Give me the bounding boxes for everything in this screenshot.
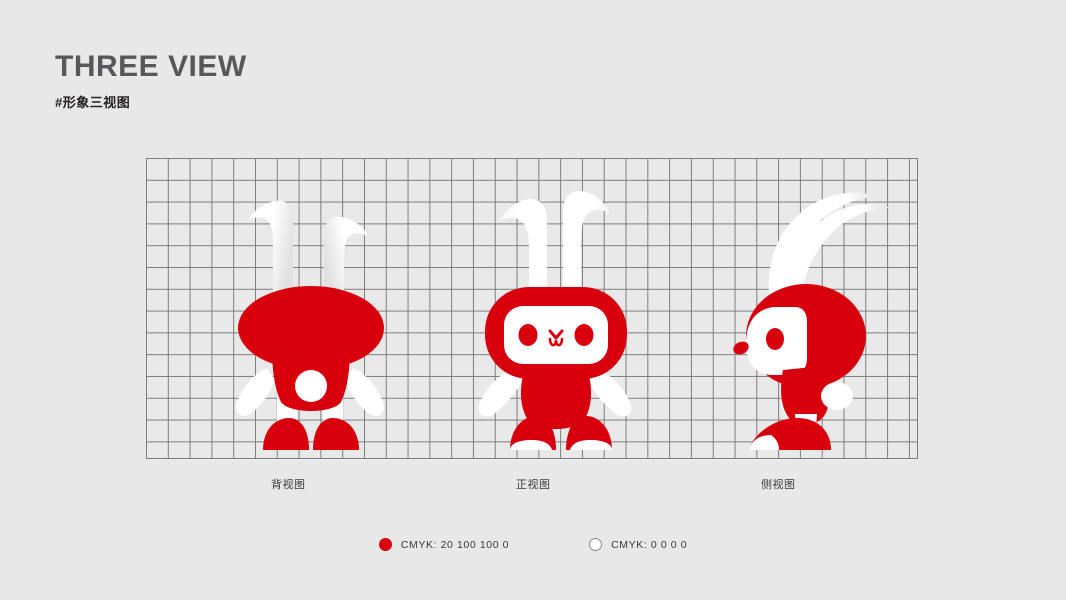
- back-shoes: [263, 418, 359, 450]
- page-subtitle: #形象三视图: [55, 92, 247, 111]
- white-swatch-icon: [589, 538, 602, 551]
- view-captions: 背视图 正视图 侧视图: [146, 476, 918, 492]
- red-swatch-icon: [379, 538, 392, 551]
- legend-label-white: CMYK: 0 0 0 0: [611, 539, 687, 551]
- front-ear-right: [563, 191, 610, 288]
- back-tail: [295, 370, 327, 402]
- side-eye: [766, 328, 784, 350]
- front-ear-left: [500, 199, 547, 288]
- back-ear-right: [324, 217, 368, 298]
- back-ear-left: [249, 201, 293, 298]
- page-header: THREE VIEW #形象三视图: [55, 52, 247, 111]
- mascot-front-view: [446, 158, 676, 459]
- legend-item-white: CMYK: 0 0 0 0: [589, 538, 687, 551]
- legend-label-red: CMYK: 20 100 100 0: [401, 539, 509, 551]
- front-eye-right: [575, 324, 594, 346]
- page-title: THREE VIEW: [55, 52, 247, 82]
- caption-front-view: 正视图: [516, 476, 551, 492]
- legend-item-red: CMYK: 20 100 100 0: [379, 538, 509, 551]
- mascot-side-view: [691, 158, 921, 459]
- side-tail: [821, 382, 853, 410]
- three-view-stage: [146, 158, 918, 459]
- caption-back-view: 背视图: [271, 476, 306, 492]
- mascot-back-view: [201, 158, 431, 459]
- mascot-figures: [146, 158, 918, 459]
- side-shoe: [749, 418, 831, 450]
- side-ears: [769, 193, 891, 300]
- front-eye-left: [519, 324, 538, 346]
- caption-side-view: 侧视图: [761, 476, 796, 492]
- color-legend: CMYK: 20 100 100 0 CMYK: 0 0 0 0: [0, 538, 1066, 551]
